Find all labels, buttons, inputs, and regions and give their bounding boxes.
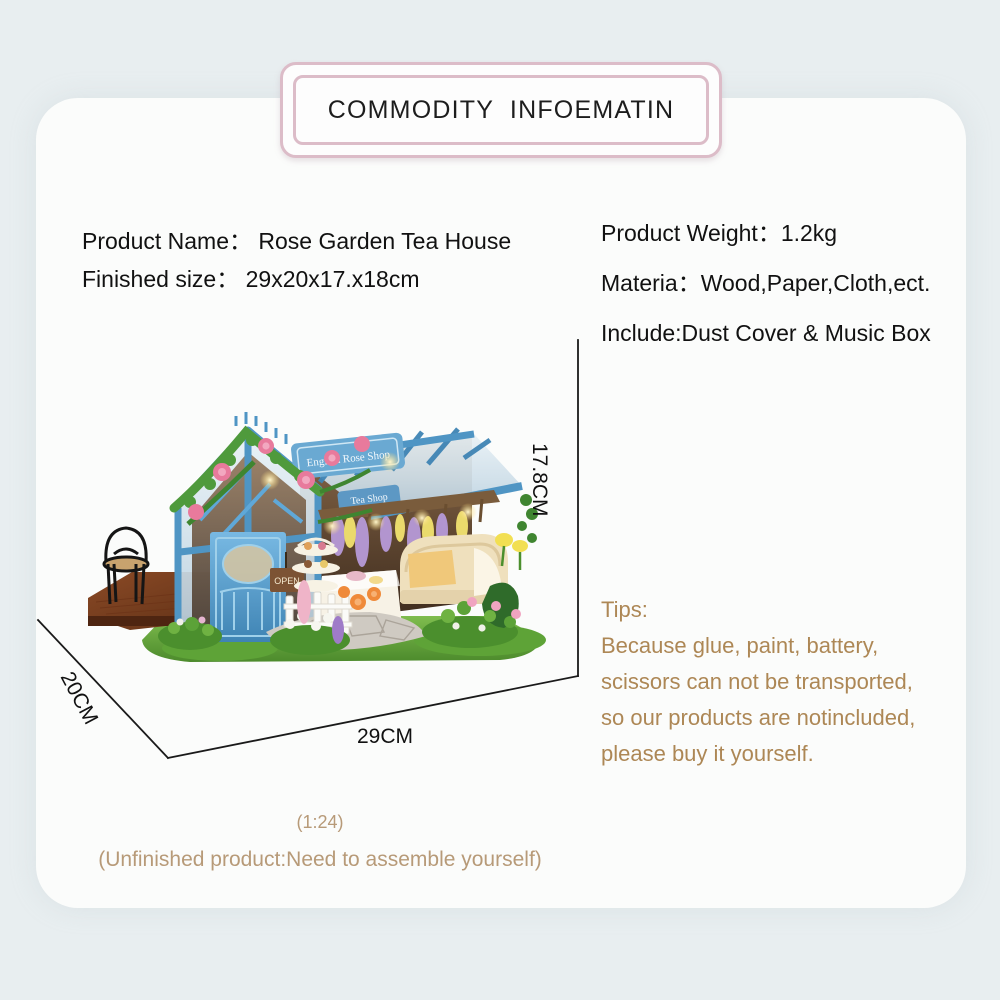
scale-note: (1:24) xyxy=(0,812,640,833)
assemble-note: (Unfinished product:Need to assemble you… xyxy=(0,848,640,872)
page-title: COMMODITY INFOEMATIN xyxy=(328,96,675,125)
tips-line-1: Because glue, paint, battery, xyxy=(601,628,915,664)
product-name-line: Product Name： Rose Garden Tea House xyxy=(82,222,511,260)
tips-line-3: so our products are notincluded, xyxy=(601,700,915,736)
product-weight-line: Product Weight：1.2kg xyxy=(601,208,931,258)
material-line: Materia：Wood,Paper,Cloth,ect. xyxy=(601,258,931,308)
include-line: Include:Dust Cover & Music Box xyxy=(601,308,931,358)
product-spec-left: Product Name： Rose Garden Tea House Fini… xyxy=(82,222,511,298)
tips-line-4: please buy it yourself. xyxy=(601,736,915,772)
tips-heading: Tips: xyxy=(601,592,915,628)
page-root: COMMODITY INFOEMATIN Product Name： Rose … xyxy=(0,0,1000,1000)
product-spec-right: Product Weight：1.2kg Materia：Wood,Paper,… xyxy=(601,208,931,358)
product-photo: OPEN English Rose Shop Tea Shop xyxy=(70,340,570,695)
photo-cake-stand xyxy=(292,539,340,592)
commodity-information-title-plaque: COMMODITY INFOEMATIN xyxy=(280,62,722,158)
height-dimension-label: 17.8CM xyxy=(527,443,551,517)
finished-size-line: Finished size： 29x20x17.x18cm xyxy=(82,260,511,298)
title-plaque-inner-border: COMMODITY INFOEMATIN xyxy=(293,75,709,145)
width-dimension-label: 29CM xyxy=(357,725,413,749)
tips-block: Tips: Because glue, paint, battery, scis… xyxy=(601,592,915,772)
tips-line-2: scissors can not be transported, xyxy=(601,664,915,700)
